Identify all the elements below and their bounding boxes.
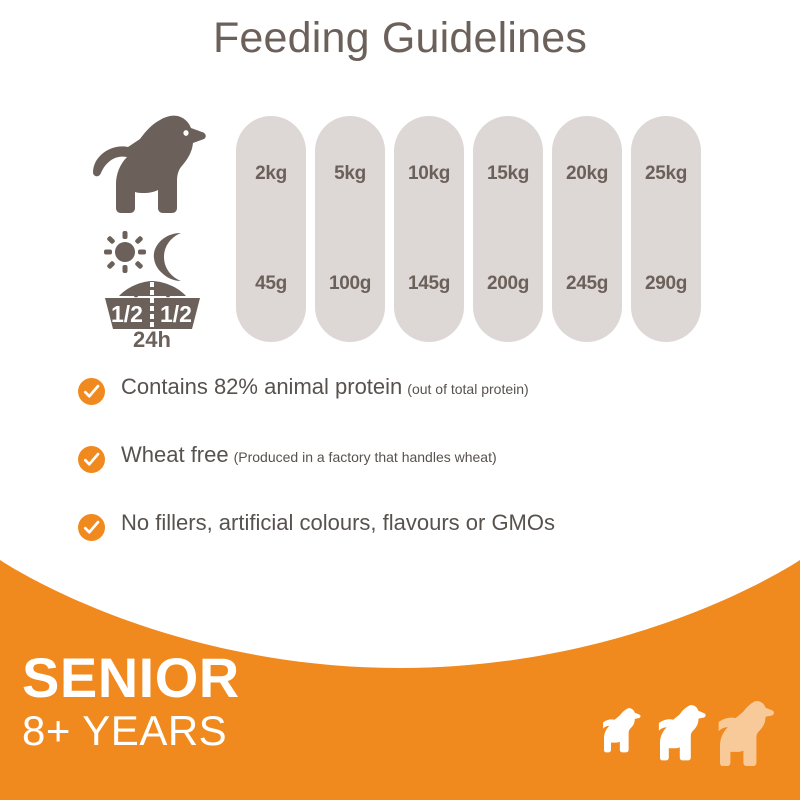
sitting-dog-icon [92,112,212,222]
dog-weight-value: 10kg [394,163,464,185]
moon-icon [154,233,181,281]
benefit-main: No fillers, artificial colours, flavours… [121,510,555,535]
benefit-text: No fillers, artificial colours, flavours… [121,510,560,536]
portion-morning: 1/2 [111,301,143,327]
three-dogs-icon [598,694,778,766]
benefit-text: Contains 82% animal protein(out of total… [121,374,529,400]
sun-icon [104,231,146,273]
feeding-capsule: 15kg 200g [473,116,543,342]
feeding-capsule: 25kg 290g [631,116,701,342]
dog-weight-value: 20kg [552,163,622,185]
feeding-schedule-icon: 1/2 1/2 24h [95,230,210,348]
page-title: Feeding Guidelines [0,14,800,63]
food-amount-value: 200g [473,273,543,295]
feeding-icon-column: 1/2 1/2 24h [80,112,230,347]
food-amount-value: 290g [631,273,701,295]
food-amount-value: 145g [394,273,464,295]
list-item: Contains 82% animal protein(out of total… [78,376,778,444]
feeding-capsule: 10kg 145g [394,116,464,342]
food-amount-value: 245g [552,273,622,295]
benefit-note: (out of total protein) [407,381,528,397]
dog-weight-value: 25kg [631,163,701,185]
check-icon [78,378,105,405]
dog-weight-value: 2kg [236,163,306,185]
dog-weight-value: 15kg [473,163,543,185]
benefit-main: Contains 82% animal protein [121,374,402,399]
feeding-capsule: 2kg 45g [236,116,306,342]
benefits-list: Contains 82% animal protein(out of total… [78,376,778,580]
check-icon [78,446,105,473]
feeding-capsule: 20kg 245g [552,116,622,342]
benefit-main: Wheat free [121,442,229,467]
feeding-capsule: 5kg 100g [315,116,385,342]
life-stage-age: 8+ YEARS [22,708,240,754]
check-icon [78,514,105,541]
benefit-text: Wheat free(Produced in a factory that ha… [121,442,497,468]
portion-evening: 1/2 [160,301,192,327]
banner-text-block: SENIOR 8+ YEARS [22,650,240,754]
feeding-guidelines-table: 1/2 1/2 24h 2kg 45g 5kg 100g 10kg 145g 1… [0,112,800,347]
food-amount-value: 100g [315,273,385,295]
dog-weight-value: 5kg [315,163,385,185]
period-label: 24h [133,327,171,348]
feeding-capsule-row: 2kg 45g 5kg 100g 10kg 145g 15kg 200g 20k… [236,116,704,342]
life-stage-banner: SENIOR 8+ YEARS [0,560,800,800]
food-amount-value: 45g [236,273,306,295]
list-item: Wheat free(Produced in a factory that ha… [78,444,778,512]
product-info-panel: Feeding Guidelines [0,0,800,800]
benefit-note: (Produced in a factory that handles whea… [234,449,497,465]
life-stage-name: SENIOR [22,650,240,706]
